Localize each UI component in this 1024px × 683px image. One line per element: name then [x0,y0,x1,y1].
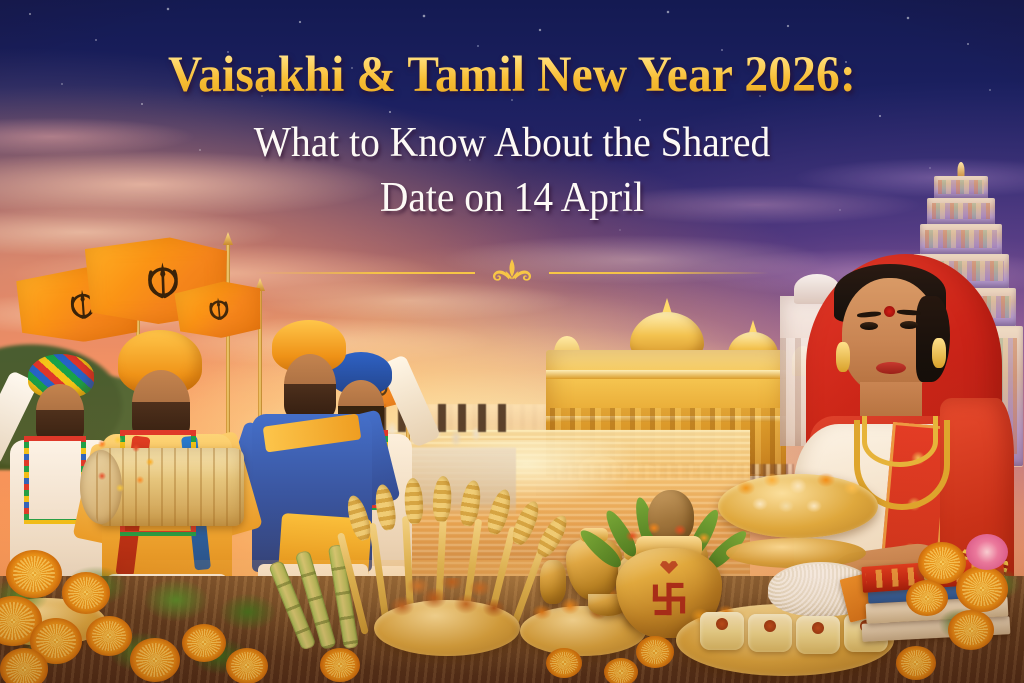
festival-hero-banner: Vaisakhi & Tamil New Year 2026: What to … [0,0,1024,683]
page-subtitle: What to Know About the Shared Date on 14… [31,116,994,227]
page-title: Vaisakhi & Tamil New Year 2026: [36,48,988,102]
fleur-de-lis-ornament-icon [475,258,549,288]
divider-line-left [255,272,475,274]
divider [0,258,1024,288]
headline-block: Vaisakhi & Tamil New Year 2026: What to … [0,48,1024,227]
divider-line-right [549,272,769,274]
subtitle-line-1: What to Know About the Shared [254,120,770,166]
subtitle-line-2: Date on 14 April [380,175,644,221]
